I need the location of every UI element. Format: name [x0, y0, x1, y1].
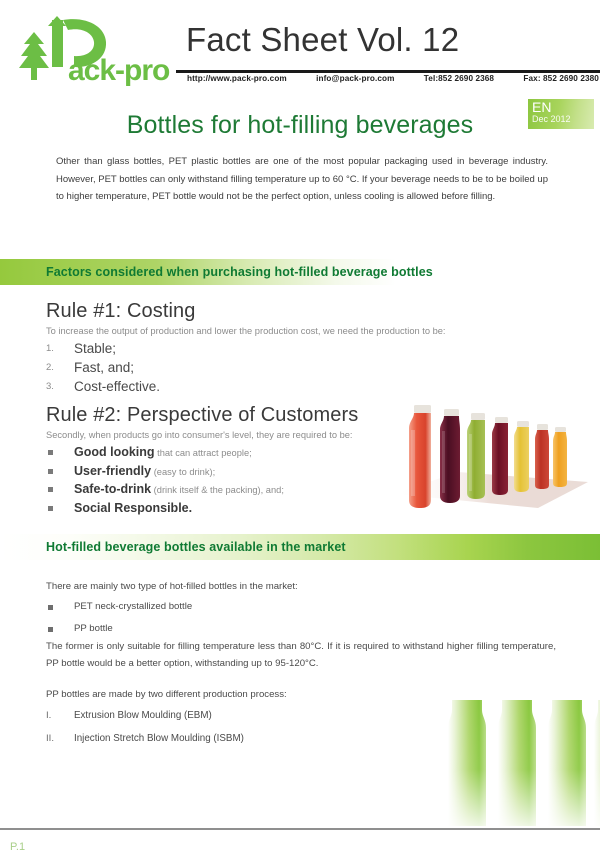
market-intro-paragraph: There are mainly two type of hot-filled … — [46, 578, 546, 595]
green-bottles-graphic — [430, 698, 600, 830]
section-header-factors: Factors considered when purchasing hot-f… — [0, 259, 600, 285]
svg-text:ack-pro: ack-pro — [68, 54, 170, 86]
page-header: ack-pro Fact Sheet Vol. 12 http://www.pa… — [0, 0, 600, 96]
intro-paragraph: Other than glass bottles, PET plastic bo… — [56, 153, 548, 206]
list-item-label: Cost-effective. — [74, 379, 160, 394]
rule-2-list: Good looking that can attract people; Us… — [46, 443, 284, 517]
rule-1-list: 1. Stable; 2. Fast, and; 3. Cost-effecti… — [46, 339, 160, 396]
process-intro-paragraph: PP bottles are made by two different pro… — [46, 686, 466, 703]
list-item: 3. Cost-effective. — [46, 377, 160, 396]
fact-sheet-title: Fact Sheet Vol. 12 — [186, 20, 590, 60]
production-process-list: I. Extrusion Blow Moulding (EBM) II. Inj… — [46, 704, 244, 750]
list-item-label: Stable; — [74, 341, 116, 356]
list-item: Safe-to-drink (drink itself & the packin… — [46, 480, 284, 499]
square-bullet-icon — [48, 469, 53, 474]
masthead: Fact Sheet Vol. 12 — [186, 20, 590, 60]
list-item: PET neck-crystallized bottle — [46, 596, 192, 618]
pack-pro-logo: ack-pro — [8, 14, 178, 86]
rule-1-heading: Rule #1: Costing — [46, 298, 195, 324]
list-item: I. Extrusion Blow Moulding (EBM) — [46, 704, 244, 727]
list-marker: 2. — [46, 358, 66, 377]
list-item: PP bottle — [46, 618, 192, 640]
contact-website[interactable]: http://www.pack-pro.com — [186, 74, 288, 83]
list-marker: 3. — [46, 377, 66, 396]
list-item: Good looking that can attract people; — [46, 443, 284, 462]
list-item-label: PP bottle — [74, 623, 113, 634]
list-item-label: User-friendly — [74, 464, 151, 478]
contact-telephone: Tel:852 2690 2368 — [423, 74, 495, 83]
square-bullet-icon — [48, 506, 53, 511]
header-divider-rule — [176, 70, 600, 73]
footer-divider-rule — [0, 828, 600, 830]
page-number: P.1 — [10, 840, 25, 854]
contact-fax: Fax: 852 2690 2380 — [522, 74, 600, 83]
list-item-label: Fast, and; — [74, 360, 134, 375]
market-body-paragraph: The former is only suitable for filling … — [46, 638, 556, 672]
list-item: Social Responsible. — [46, 499, 284, 518]
contact-email[interactable]: info@pack-pro.com — [315, 74, 395, 83]
market-bottle-types-list: PET neck-crystallized bottle PP bottle — [46, 596, 192, 640]
list-marker: II. — [46, 727, 68, 750]
square-bullet-icon — [48, 487, 53, 492]
list-marker: 1. — [46, 339, 66, 358]
list-item-note: (drink itself & the packing), and; — [151, 485, 284, 495]
list-item: User-friendly (easy to drink); — [46, 462, 284, 481]
square-bullet-icon — [48, 450, 53, 455]
list-item-label: PET neck-crystallized bottle — [74, 601, 192, 612]
list-item-label: Good looking — [74, 445, 155, 459]
section-header-label-1: Factors considered when purchasing hot-f… — [46, 259, 433, 285]
section-header-label-2: Hot-filled beverage bottles available in… — [46, 534, 346, 560]
list-item-label: Safe-to-drink — [74, 482, 151, 496]
list-item-label: Social Responsible. — [74, 501, 192, 515]
list-marker: I. — [46, 704, 68, 727]
list-item: 1. Stable; — [46, 339, 160, 358]
section-header-market: Hot-filled beverage bottles available in… — [0, 534, 600, 560]
list-item: 2. Fast, and; — [46, 358, 160, 377]
square-bullet-icon — [48, 627, 53, 632]
list-item-label: Injection Stretch Blow Moulding (ISBM) — [74, 733, 244, 744]
square-bullet-icon — [48, 605, 53, 610]
rule-2-heading: Rule #2: Perspective of Customers — [46, 402, 358, 428]
list-item-label: Extrusion Blow Moulding (EBM) — [74, 710, 212, 721]
rule-2-subtitle: Secondly, when products go into consumer… — [46, 428, 353, 442]
page-title: Bottles for hot-filling beverages — [0, 109, 600, 141]
contact-info-line: http://www.pack-pro.com info@pack-pro.co… — [186, 74, 600, 83]
rule-1-subtitle: To increase the output of production and… — [46, 324, 446, 338]
list-item-note: that can attract people; — [155, 448, 252, 458]
fact-sheet-page: ack-pro Fact Sheet Vol. 12 http://www.pa… — [0, 0, 600, 862]
juice-bottles-photo — [388, 396, 594, 520]
list-item-note: (easy to drink); — [151, 467, 215, 477]
list-item: II. Injection Stretch Blow Moulding (ISB… — [46, 727, 244, 750]
